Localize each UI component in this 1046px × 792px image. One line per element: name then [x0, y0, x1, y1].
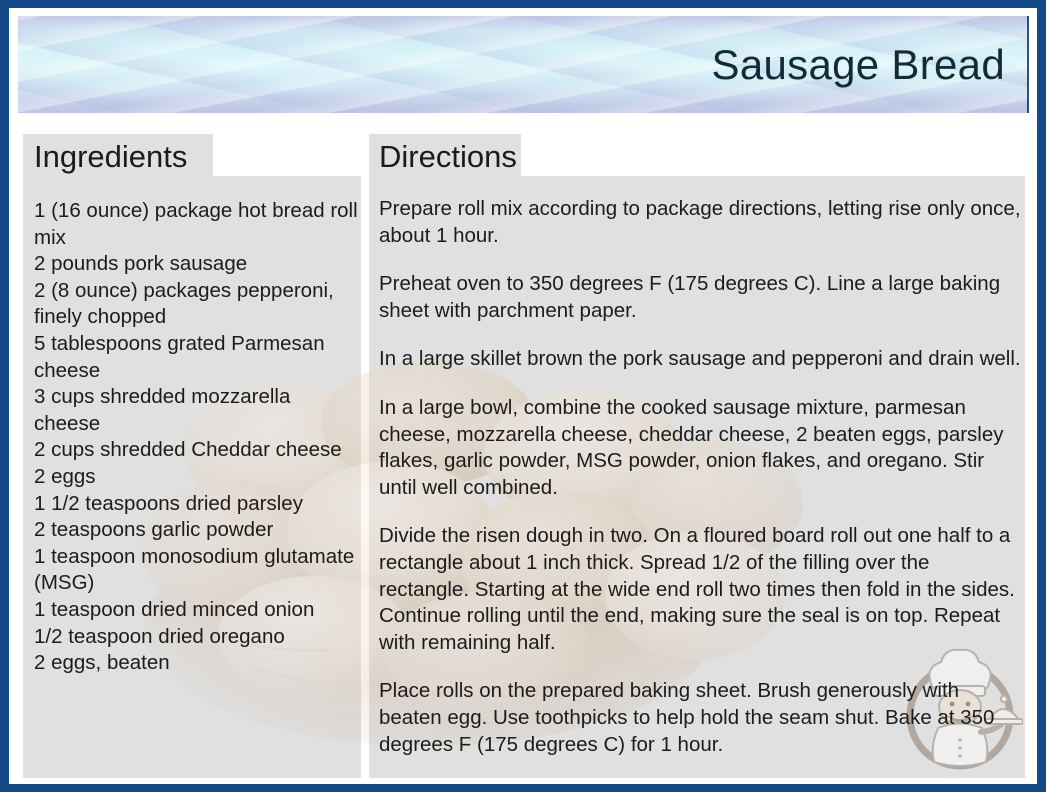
direction-step: Prepare roll mix according to package di…: [379, 196, 1025, 249]
list-item: 3 cups shredded mozzarella cheese: [34, 384, 358, 437]
directions-list: Prepare roll mix according to package di…: [379, 196, 1025, 758]
list-item: 1 1/2 teaspoons dried parsley: [34, 491, 358, 518]
list-item: 2 eggs: [34, 464, 358, 491]
direction-step: In a large skillet brown the pork sausag…: [379, 346, 1025, 373]
directions-heading: Directions: [379, 139, 517, 175]
list-item: 2 teaspoons garlic powder: [34, 517, 358, 544]
list-item: 2 eggs, beaten: [34, 650, 358, 677]
list-item: 1 (16 ounce) package hot bread roll mix: [34, 198, 358, 251]
list-item: 2 (8 ounce) packages pepperoni, finely c…: [34, 278, 358, 331]
ingredients-heading: Ingredients: [34, 139, 187, 175]
list-item: 5 tablespoons grated Parmesan cheese: [34, 331, 358, 384]
directions-header-tab: Directions: [369, 134, 521, 180]
list-item: 1 teaspoon monosodium glutamate (MSG): [34, 544, 358, 597]
direction-step: Place rolls on the prepared baking sheet…: [379, 678, 1025, 758]
recipe-card-frame: Sausage Bread Ingredients Directions: [0, 0, 1046, 792]
banner-right-edge: [1027, 16, 1029, 113]
ingredients-header-tab: Ingredients: [23, 134, 213, 180]
recipe-card-body: Sausage Bread Ingredients Directions: [9, 8, 1037, 784]
direction-step: Preheat oven to 350 degrees F (175 degre…: [379, 271, 1025, 324]
page-title: Sausage Bread: [712, 41, 1005, 89]
title-banner: Sausage Bread: [18, 16, 1029, 113]
list-item: 2 pounds pork sausage: [34, 251, 358, 278]
list-item: 1 teaspoon dried minced onion: [34, 597, 358, 624]
ingredients-list: 1 (16 ounce) package hot bread roll mix …: [34, 198, 358, 677]
direction-step: In a large bowl, combine the cooked saus…: [379, 395, 1025, 501]
list-item: 2 cups shredded Cheddar cheese: [34, 437, 358, 464]
list-item: 1/2 teaspoon dried oregano: [34, 624, 358, 651]
direction-step: Divide the risen dough in two. On a flou…: [379, 523, 1025, 656]
